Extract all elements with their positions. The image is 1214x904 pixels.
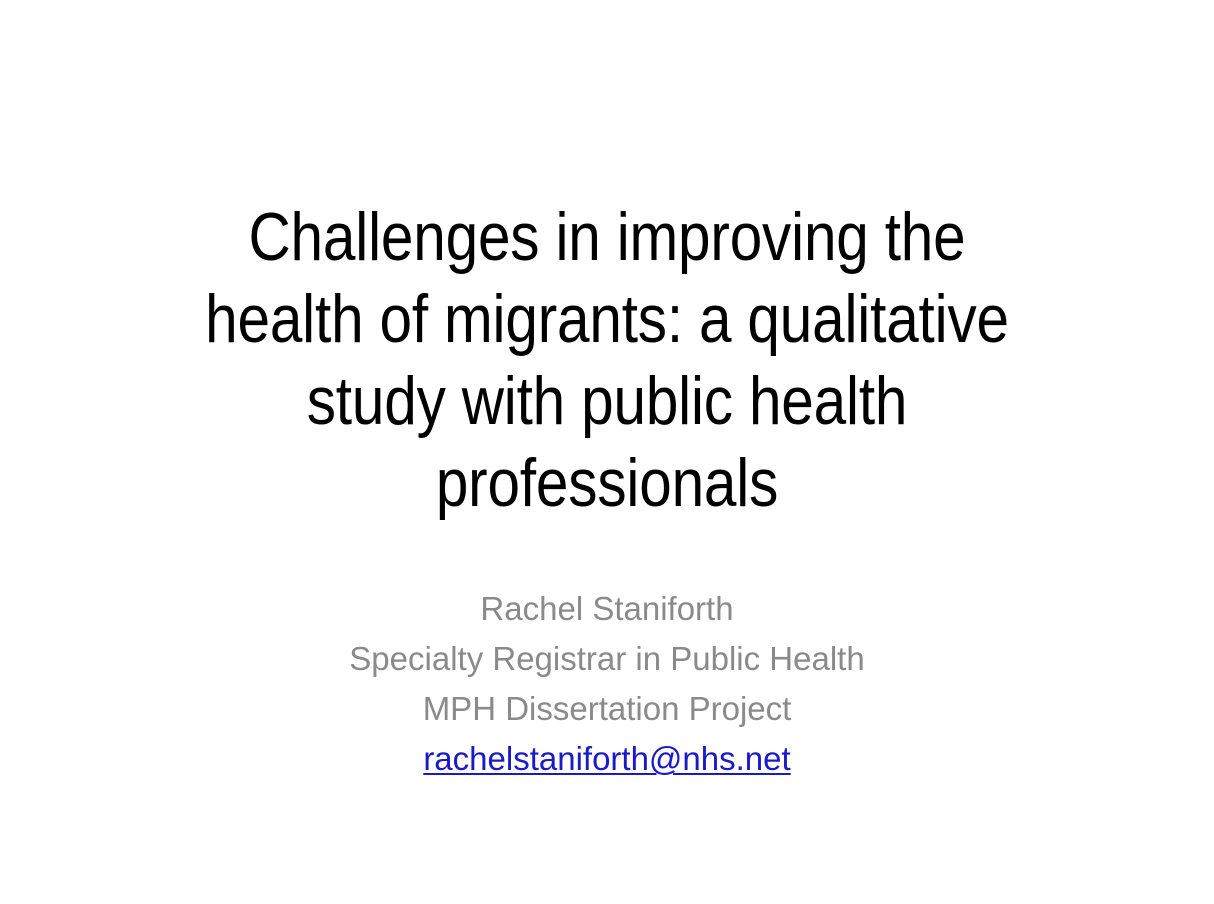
slide-subtitle: Rachel Staniforth Specialty Registrar in…	[0, 584, 1214, 791]
title-slide: Challenges in improving the health of mi…	[0, 0, 1214, 904]
title-line-2: health of migrants: a qualitative	[85, 278, 1129, 360]
project-name: MPH Dissertation Project	[0, 684, 1214, 734]
title-line-4: professionals	[85, 442, 1129, 524]
email-line: rachelstaniforth@nhs.net	[0, 734, 1214, 791]
email-link[interactable]: rachelstaniforth@nhs.net	[423, 740, 790, 777]
author-name: Rachel Staniforth	[0, 584, 1214, 634]
title-line-1: Challenges in improving the	[85, 196, 1129, 278]
title-line-3: study with public health	[85, 360, 1129, 442]
author-role: Specialty Registrar in Public Health	[0, 634, 1214, 684]
slide-title: Challenges in improving the health of mi…	[0, 196, 1214, 524]
